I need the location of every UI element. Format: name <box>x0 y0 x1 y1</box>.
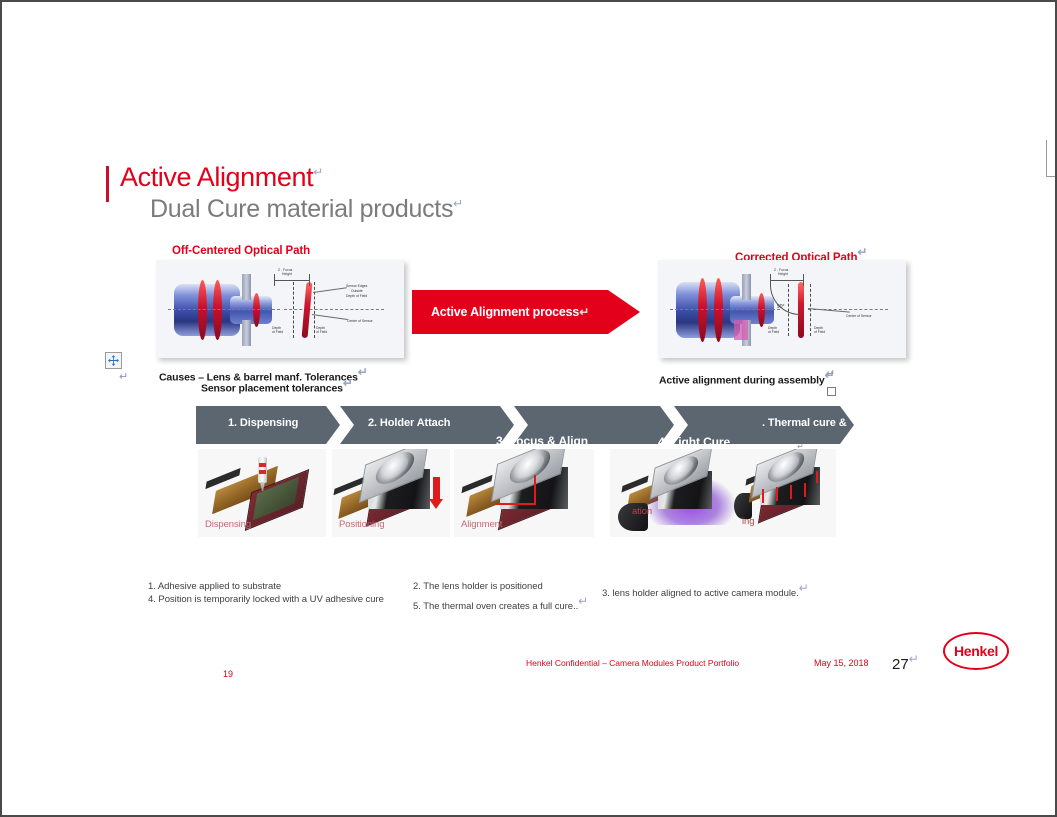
photo-label-thermal-cure: ing <box>742 516 754 527</box>
label-sensor-edges: Sensor Edges <box>346 284 367 288</box>
pilcrow-mark: ↵ <box>358 365 368 379</box>
chevron-label-4: 4. Light Cure <box>658 435 730 449</box>
pilcrow-mark: ↵ <box>119 370 128 383</box>
henkel-logo: Henkel <box>943 632 1009 670</box>
henkel-logo-text: Henkel <box>954 643 998 659</box>
label-angle-90: 90° <box>777 304 785 310</box>
chevron-point <box>326 406 340 444</box>
slide-number-left: 19 <box>223 669 233 679</box>
corner-bracket-mark <box>1046 140 1057 177</box>
photo-label-positioning: Positioning <box>339 519 384 530</box>
bullet-1: 1. Adhesive applied to substrate <box>148 581 281 592</box>
label-center-of-sensor: Center of Sensor <box>846 314 872 318</box>
chevron-label-3: 3. Focus & Align <box>496 434 588 448</box>
bullet-5-text: 5. The thermal oven creates a full cure.… <box>413 601 578 612</box>
pilcrow-mark: ↵ <box>857 245 867 259</box>
title-subtitle-text: Dual Cure material products <box>150 195 453 223</box>
label-of-field: of Field <box>768 330 779 334</box>
bullet-3: 3. lens holder aligned to active camera … <box>602 581 809 599</box>
chevron-label-5: . Thermal cure & <box>762 417 847 429</box>
arrow-head <box>608 290 640 334</box>
title-accent-bar <box>106 166 109 202</box>
corrected-optical-diagram: Z - Focus Height 90° Center of Sensor De… <box>658 260 906 358</box>
pilcrow-mark: ↵ <box>343 376 353 390</box>
photo-label-dispensing: Dispensing <box>205 519 251 530</box>
pilcrow-mark: ↵ <box>313 165 323 179</box>
move-handle-icon[interactable] <box>105 352 122 369</box>
label-outside: Outside <box>351 289 363 293</box>
footer-date: May 15, 2018 <box>814 658 869 668</box>
label-of-field: of Field <box>814 330 825 334</box>
title-main-text: Active Alignment <box>120 162 313 192</box>
label-depth-of-field: Depth of Field <box>346 294 367 298</box>
chevron-label-2: 2. Holder Attach <box>368 417 450 429</box>
bullet-4: 4. Position is temporarily locked with a… <box>148 594 384 605</box>
photo-uv-and-thermal-cure: ation ing <box>610 449 836 537</box>
pilcrow-mark: ↵ <box>909 652 919 666</box>
bullet-5: 5. The thermal oven creates a full cure.… <box>413 594 588 612</box>
dim-label-height: Height <box>778 272 788 276</box>
right-caption: Active alignment during assembly↵ <box>659 368 835 387</box>
arrow-label-text: Active Alignment process <box>431 305 579 319</box>
pilcrow-mark: ↵ <box>453 197 463 211</box>
slide-page: Active Alignment↵ Dual Cure material pro… <box>0 0 1057 817</box>
pilcrow-mark: ↵ <box>799 581 809 595</box>
footer-page-number: 27↵ <box>892 652 919 673</box>
chevron-notch <box>340 406 354 444</box>
bullet-2: 2. The lens holder is positioned <box>413 581 543 592</box>
left-caption-line-2: Sensor placement tolerances↵ <box>201 376 353 395</box>
label-of-field: of Field <box>272 330 283 334</box>
photo-positioning: Positioning <box>332 449 450 537</box>
chevron-label-1: 1. Dispensing <box>228 417 298 429</box>
off-centered-optical-diagram: Z - Focus Height Sensor Edges Outside De… <box>156 260 404 358</box>
bullet-3-text: 3. lens holder aligned to active camera … <box>602 588 799 599</box>
active-alignment-process-arrow: Active Alignment process↵ <box>412 290 640 334</box>
photo-alignment: Alignment <box>454 449 594 537</box>
four-way-arrow-glyph <box>108 355 119 366</box>
label-of-field: of Field <box>316 330 327 334</box>
dim-label-height: Height <box>282 272 292 276</box>
left-panel-title: Off-Centered Optical Path <box>172 245 310 257</box>
photo-label-uv-cure: ation <box>632 506 652 517</box>
label-center-of-sensor: Center of Sensor <box>347 319 373 323</box>
title-subtitle: Dual Cure material products↵ <box>150 195 463 224</box>
footer-page-number-text: 27 <box>892 656 909 673</box>
pilcrow-mark: ↵ <box>579 305 589 319</box>
title-main: Active Alignment↵ <box>120 162 323 193</box>
right-caption-text: Active alignment during assembly <box>659 375 825 387</box>
footer-confidential-text: Henkel Confidential – Camera Modules Pro… <box>526 658 739 668</box>
pilcrow-mark: ↵ <box>826 367 835 380</box>
photo-dispensing: Dispensing <box>198 449 326 537</box>
process-chevron-bar: 1. Dispensing 2. Holder Attach 3. Focus … <box>196 406 854 444</box>
left-caption-line-2-text: Sensor placement tolerances <box>201 383 343 395</box>
empty-box-mark <box>827 387 836 396</box>
arrow-label: Active Alignment process↵ <box>412 290 608 334</box>
pilcrow-mark: ↵ <box>578 594 588 608</box>
photo-label-alignment: Alignment <box>461 519 502 530</box>
